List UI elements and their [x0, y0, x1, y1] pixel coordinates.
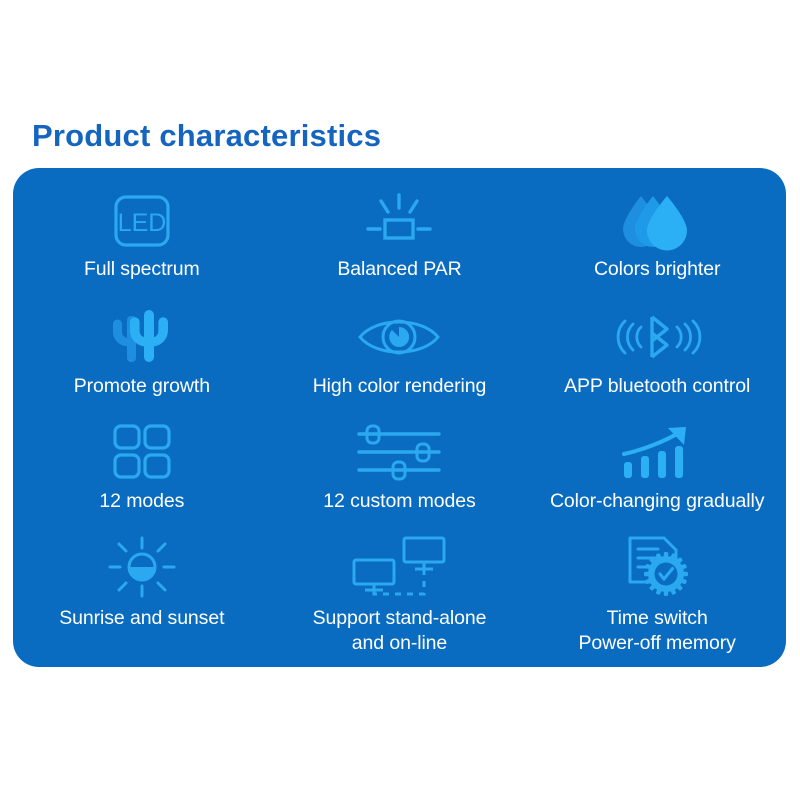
feature-label: 12 custom modes [323, 489, 475, 514]
feature-label: Balanced PAR [337, 257, 461, 282]
feature-label: Support stand-alone and on-line [313, 606, 487, 656]
feature-item-high-color-rendering[interactable]: High color rendering [271, 301, 529, 416]
bluetooth-signal-icon [605, 305, 709, 369]
feature-item-time-switch-power-off-memory[interactable]: Time switch Power-off memory [528, 531, 786, 656]
features-grid: LED Full spectrum [13, 186, 786, 656]
water-droplets-icon [615, 190, 699, 252]
feature-label: Time switch Power-off memory [578, 606, 735, 656]
feature-label: Color-changing gradually [550, 489, 764, 514]
feature-label: High color rendering [313, 374, 487, 399]
document-gear-check-icon [624, 535, 690, 599]
lamp-rays-icon [354, 190, 444, 252]
sunrise-sun-icon [109, 535, 175, 599]
page-title: Product characteristics [32, 118, 381, 154]
feature-label: Colors brighter [594, 257, 720, 282]
sliders-icon [355, 420, 443, 484]
two-monitors-network-icon [349, 535, 449, 599]
cactus-plants-icon [99, 305, 185, 369]
feature-label: 12 modes [99, 489, 184, 514]
bar-chart-arrow-icon [620, 420, 694, 484]
feature-item-promote-growth[interactable]: Promote growth [13, 301, 271, 416]
page-root: Product characteristics LED Full spectru… [0, 0, 800, 800]
feature-item-stand-alone-on-line[interactable]: Support stand-alone and on-line [271, 531, 529, 656]
feature-item-full-spectrum[interactable]: LED Full spectrum [13, 186, 271, 301]
feature-label: Full spectrum [84, 257, 200, 282]
feature-item-colors-brighter[interactable]: Colors brighter [528, 186, 786, 301]
led-icon-text: LED [118, 209, 167, 237]
feature-label: Sunrise and sunset [59, 606, 224, 631]
feature-item-color-changing-gradually[interactable]: Color-changing gradually [528, 416, 786, 531]
feature-item-app-bluetooth-control[interactable]: APP bluetooth control [528, 301, 786, 416]
grid-four-squares-icon [111, 420, 173, 484]
feature-item-balanced-par[interactable]: Balanced PAR [271, 186, 529, 301]
feature-item-12-custom-modes[interactable]: 12 custom modes [271, 416, 529, 531]
feature-label: APP bluetooth control [564, 374, 750, 399]
features-panel: LED Full spectrum [13, 168, 786, 667]
feature-item-sunrise-and-sunset[interactable]: Sunrise and sunset [13, 531, 271, 656]
eye-icon [354, 305, 444, 369]
feature-label: Promote growth [74, 374, 210, 399]
led-square-icon: LED [111, 190, 173, 252]
feature-item-12-modes[interactable]: 12 modes [13, 416, 271, 531]
